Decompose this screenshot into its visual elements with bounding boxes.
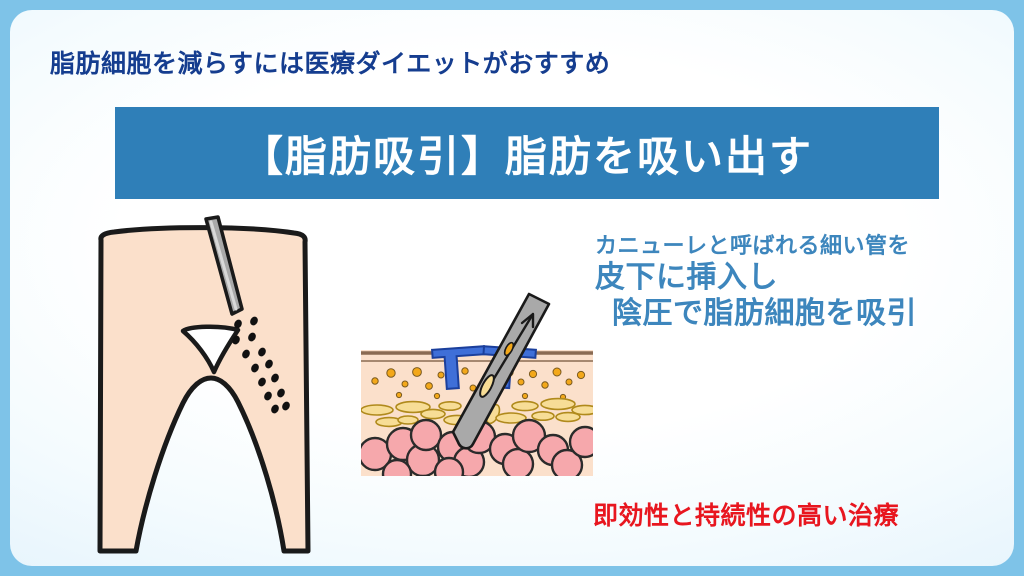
red-emphasis-note: 即効性と持続性の高い治療	[593, 496, 899, 532]
description-line-1: カニューレと呼ばれる細い管を	[595, 232, 995, 260]
skin-cross-section-illustration	[353, 292, 601, 482]
thighs-illustration	[70, 206, 340, 566]
description-line-2: 皮下に挿入し	[595, 260, 995, 297]
slide-inner-panel: 脂肪細胞を減らすには医療ダイエットがおすすめ 【脂肪吸引】脂肪を吸い出す	[10, 10, 1014, 566]
banner-bar: 【脂肪吸引】脂肪を吸い出す	[115, 107, 939, 199]
banner-title: 【脂肪吸引】脂肪を吸い出す	[241, 123, 813, 184]
thighs-shape	[100, 228, 308, 551]
slide-root: 脂肪細胞を減らすには医療ダイエットがおすすめ 【脂肪吸引】脂肪を吸い出す	[0, 0, 1024, 576]
page-headline: 脂肪細胞を減らすには医療ダイエットがおすすめ	[50, 44, 610, 80]
description-block: カニューレと呼ばれる細い管を 皮下に挿入し 陰圧で脂肪細胞を吸引	[595, 232, 995, 333]
description-line-3: 陰圧で脂肪細胞を吸引	[612, 296, 995, 333]
